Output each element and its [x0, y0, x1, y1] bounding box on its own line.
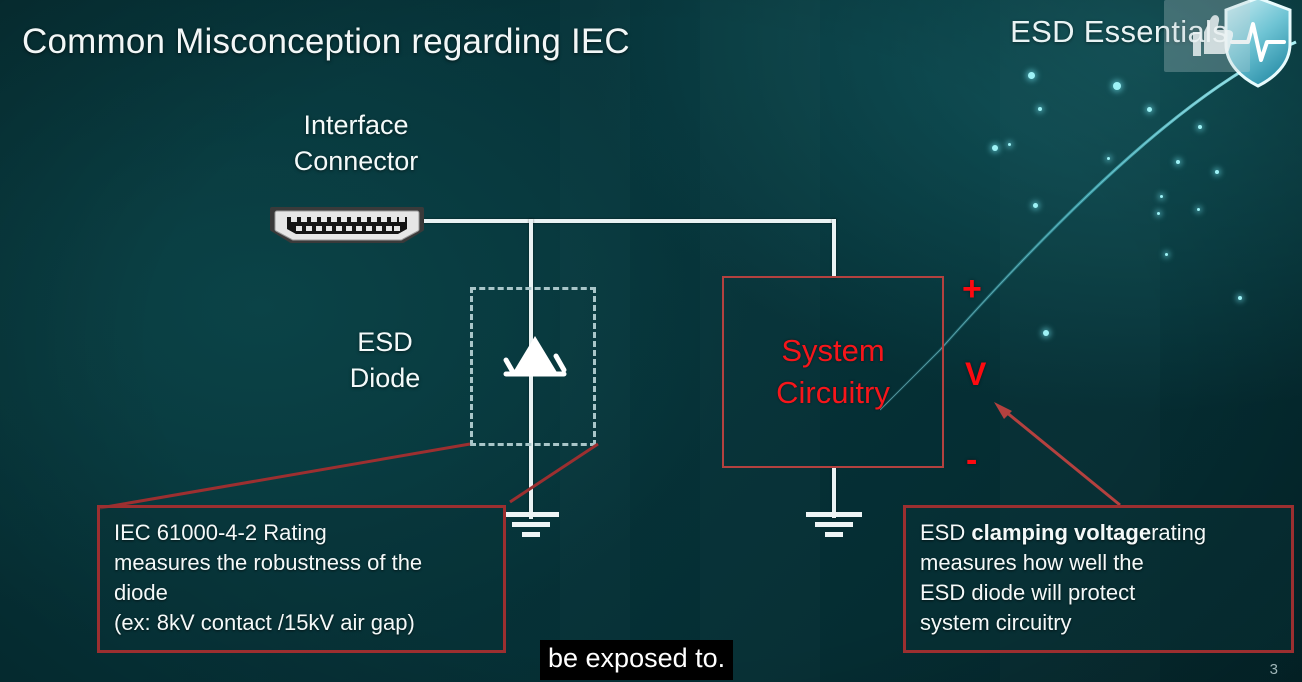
spark-dot — [1147, 107, 1152, 112]
spark-dot — [992, 145, 998, 151]
tvs-zener-diode-icon — [492, 312, 578, 396]
voltage-v-label: V — [965, 356, 986, 393]
thumbs-up-overlay[interactable] — [1164, 0, 1250, 72]
callout-iec-rating[interactable]: IEC 61000-4-2 Rating measures the robust… — [97, 505, 506, 653]
esd-diode-label: ESD Diode — [300, 325, 470, 396]
page-number: 3 — [1270, 661, 1278, 678]
callout-right-bold: clamping voltage — [971, 520, 1151, 545]
spark-dot — [1215, 170, 1219, 174]
callout-clamping-voltage[interactable]: ESD clamping voltagerating measures how … — [903, 505, 1294, 653]
spark-dot — [1028, 72, 1035, 79]
spark-dot — [1008, 143, 1011, 146]
spark-dot — [1038, 107, 1042, 111]
spark-dot — [1197, 208, 1200, 211]
wire-connector-to-system — [424, 219, 836, 223]
callout-right-text: ESD clamping voltagerating measures how … — [920, 518, 1277, 639]
callout-left-text: IEC 61000-4-2 Rating measures the robust… — [114, 518, 489, 639]
callout-right-prefix: ESD — [920, 520, 971, 545]
system-circuitry-box: System Circuitry — [722, 276, 944, 468]
spark-dot — [1113, 82, 1121, 90]
system-circuitry-label: System Circuitry — [776, 330, 890, 414]
spark-dot — [1107, 157, 1110, 160]
ground-symbol-icon — [804, 509, 864, 539]
wire-system-input — [832, 219, 836, 278]
spark-dot — [1033, 203, 1038, 208]
spark-dot — [1160, 195, 1163, 198]
thumbs-up-icon — [1181, 10, 1233, 62]
page-title: Common Misconception regarding IEC — [22, 22, 630, 62]
spark-dot — [1043, 330, 1049, 336]
interface-connector-label: Interface Connector — [240, 108, 472, 179]
video-caption: be exposed to. — [540, 640, 733, 680]
spark-dot — [1238, 296, 1242, 300]
slide-canvas: Common Misconception regarding IEC ESD E… — [0, 0, 1302, 682]
spark-dot — [1176, 160, 1180, 164]
spark-dot — [1165, 253, 1168, 256]
right-callout-arrow — [960, 385, 1140, 510]
spark-dot — [1198, 125, 1202, 129]
ground-symbol-icon — [501, 509, 561, 539]
spark-dot — [1157, 212, 1160, 215]
hdmi-connector-icon — [268, 203, 426, 247]
polarity-plus-label: + — [962, 270, 982, 309]
polarity-minus-label: - — [966, 441, 977, 480]
